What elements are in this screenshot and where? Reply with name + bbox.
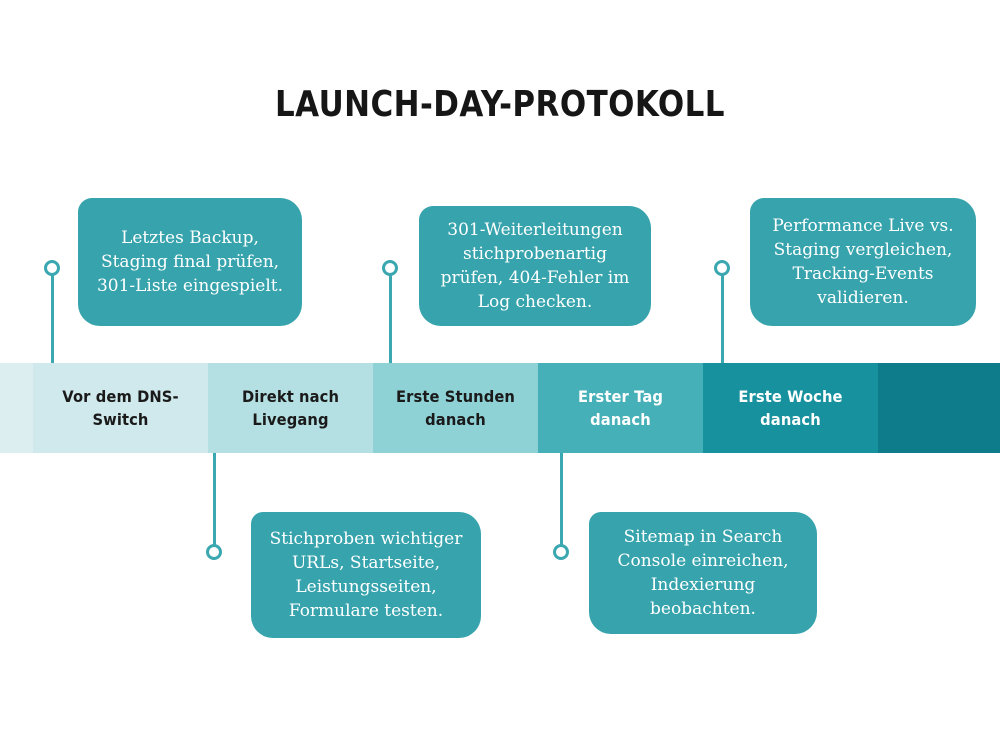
card-above-1[interactable]: Letztes Backup, Staging final prüfen, 30… <box>78 198 302 326</box>
timeline-segment-label: Direkt nach Livegang <box>220 385 361 431</box>
connector-ring-icon <box>206 544 222 560</box>
connector-above-1 <box>44 260 60 370</box>
timeline-segment-erste-stunden-danach[interactable]: Erste Stunden danach <box>373 363 538 453</box>
connector-line <box>721 274 724 370</box>
timeline-bar: Vor dem DNS-Switch Direkt nach Livegang … <box>0 363 1000 453</box>
connector-above-3 <box>714 260 730 370</box>
card-text: Performance Live vs. Staging vergleichen… <box>764 214 962 311</box>
timeline-segment-erste-woche-danach[interactable]: Erste Woche danach <box>703 363 878 453</box>
infographic-canvas: LAUNCH-DAY-PROTOKOLL Vor dem DNS-Switch … <box>0 0 1000 750</box>
card-text: Letztes Backup, Staging final prüfen, 30… <box>92 226 288 298</box>
connector-ring-icon <box>553 544 569 560</box>
page-title: LAUNCH-DAY-PROTOKOLL <box>70 84 930 125</box>
connector-below-1 <box>206 450 222 562</box>
connector-line <box>51 274 54 370</box>
timeline-segment-0[interactable] <box>0 363 33 453</box>
timeline-segment-erster-tag-danach[interactable]: Erster Tag danach <box>538 363 703 453</box>
timeline-segment-label: Erste Stunden danach <box>385 385 526 431</box>
timeline-segment-label: Erster Tag danach <box>550 385 691 431</box>
timeline-segment-direkt-nach-livegang[interactable]: Direkt nach Livegang <box>208 363 373 453</box>
connector-line <box>389 274 392 370</box>
connector-above-2 <box>382 260 398 370</box>
connector-line <box>560 450 563 548</box>
card-text: Stichproben wichtiger URLs, Startseite, … <box>265 527 467 624</box>
card-below-2[interactable]: Sitemap in Search Console einreichen, In… <box>589 512 817 634</box>
timeline-segment-label: Erste Woche danach <box>716 385 866 431</box>
card-above-2[interactable]: 301-Weiterleitungen stichprobenartig prü… <box>419 206 651 326</box>
connector-below-2 <box>553 450 569 562</box>
timeline-segment-vor-dem-dns-switch[interactable]: Vor dem DNS-Switch <box>33 363 208 453</box>
card-below-1[interactable]: Stichproben wichtiger URLs, Startseite, … <box>251 512 481 638</box>
timeline-segment-label: Vor dem DNS-Switch <box>46 385 196 431</box>
card-text: Sitemap in Search Console einreichen, In… <box>603 525 803 622</box>
connector-line <box>213 450 216 548</box>
card-above-3[interactable]: Performance Live vs. Staging vergleichen… <box>750 198 976 326</box>
timeline-segment-6[interactable] <box>878 363 1000 453</box>
card-text: 301-Weiterleitungen stichprobenartig prü… <box>433 218 637 315</box>
